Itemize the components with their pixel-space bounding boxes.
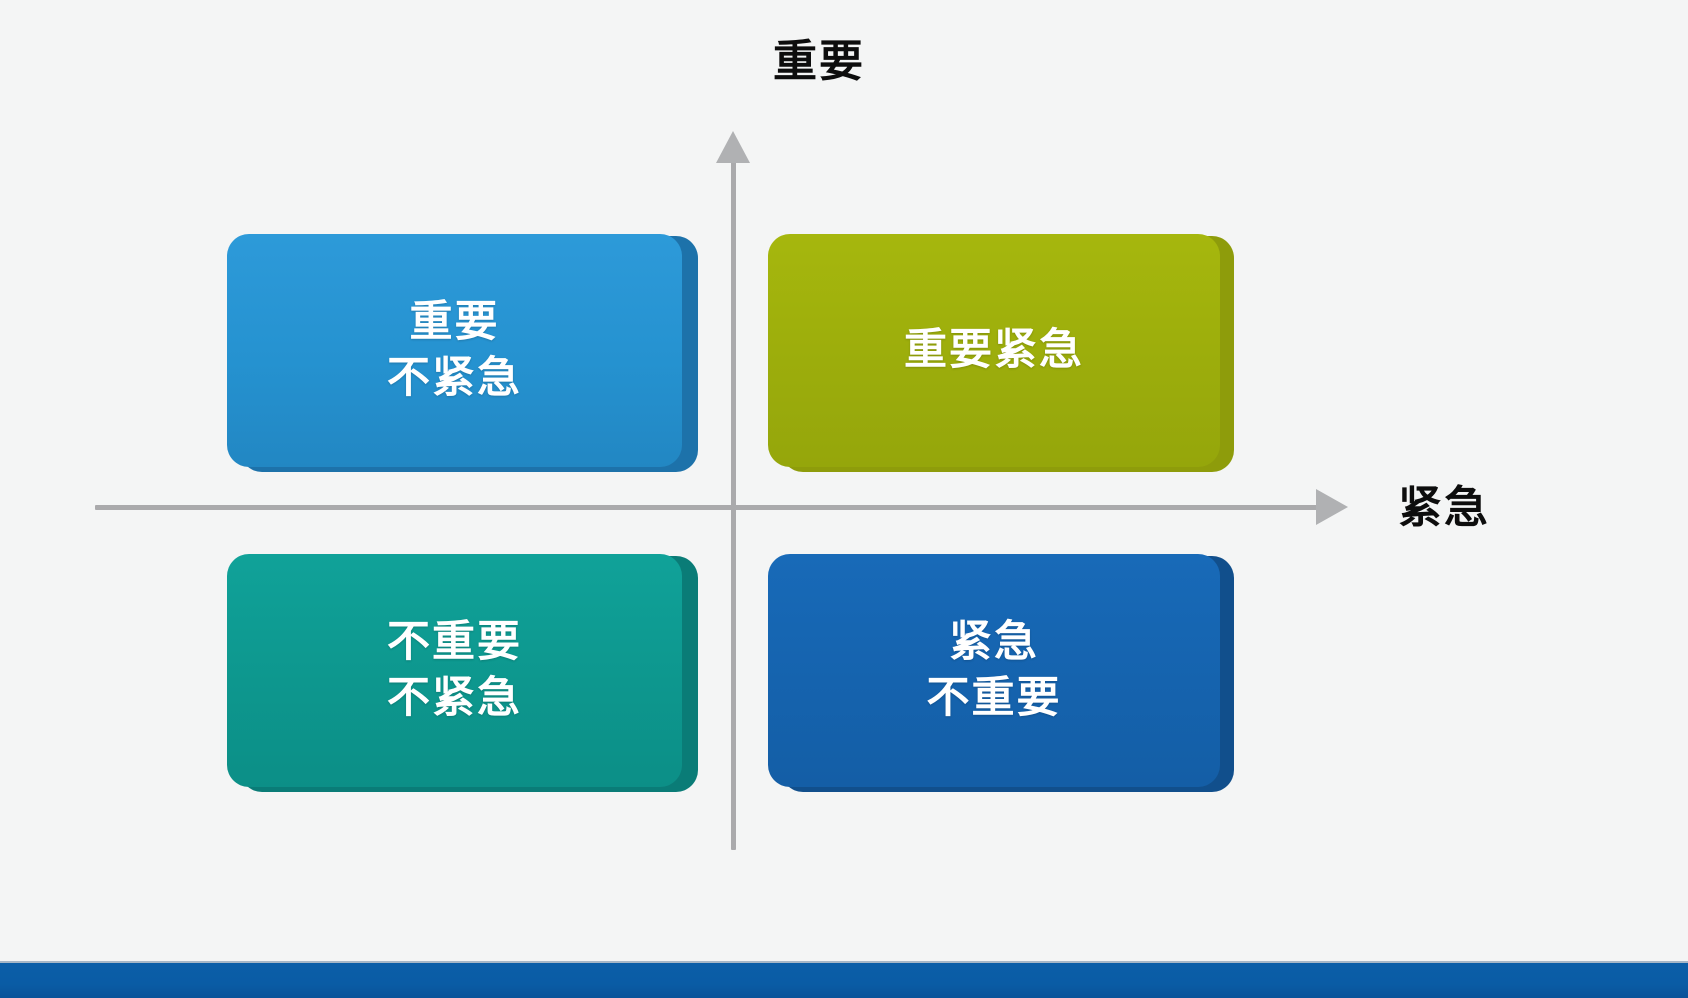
quadrant-urgent-not-important[interactable]: 紧急 不重要 (768, 554, 1220, 787)
quadrant-not-important-not-urgent-label: 不重要 不紧急 (387, 615, 522, 725)
quadrant-important-urgent-label: 重要紧急 (904, 323, 1084, 378)
quadrant-urgent-not-important-label: 紧急 不重要 (927, 615, 1062, 725)
horizontal-axis-line (95, 505, 1325, 510)
quadrant-not-important-not-urgent[interactable]: 不重要 不紧急 (227, 554, 682, 787)
arrow-up-icon (716, 131, 750, 163)
quadrant-important-not-urgent[interactable]: 重要 不紧急 (227, 234, 682, 467)
arrow-right-icon (1316, 489, 1348, 525)
horizontal-axis-label: 紧急 (1398, 484, 1490, 532)
quadrant-important-not-urgent-label: 重要 不紧急 (387, 295, 522, 405)
eisenhower-matrix-slide: 重要 紧急 重要 不紧急 重要紧急 不重要 不紧急 紧急 不重要 (0, 0, 1688, 998)
quadrant-important-urgent[interactable]: 重要紧急 (768, 234, 1220, 467)
bottom-accent-bar (0, 963, 1688, 998)
vertical-axis-label: 重要 (0, 38, 1688, 86)
